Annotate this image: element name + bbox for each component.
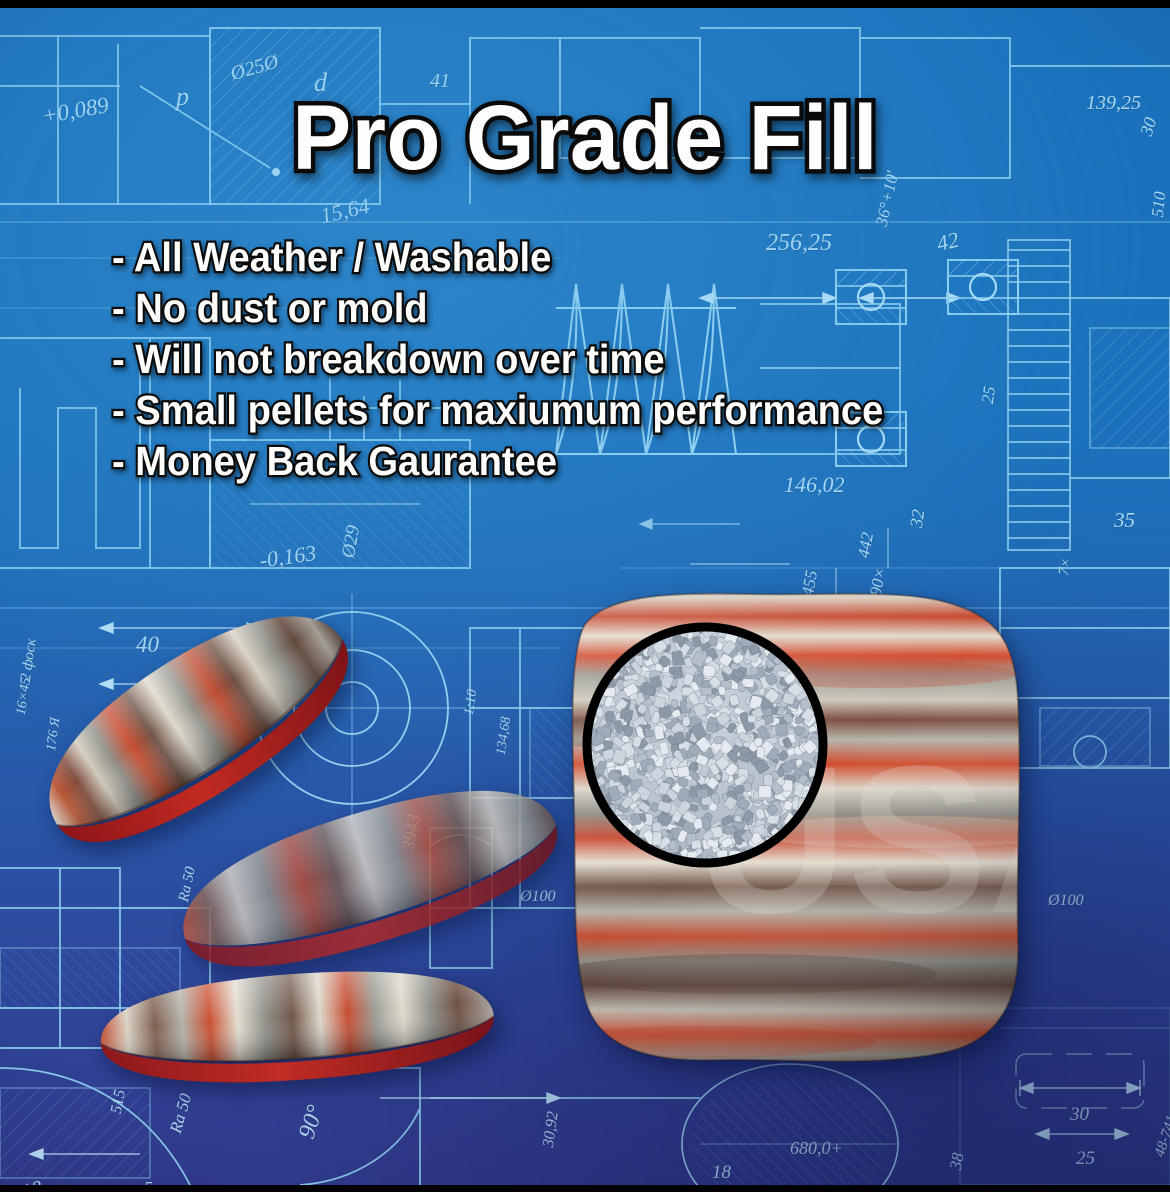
pellet-magnifier-circle	[578, 618, 832, 872]
product-poster: +0,08915,6441Ø25Øpd139,2530256,2536°+10'…	[0, 0, 1170, 1192]
letterbox-top	[0, 0, 1170, 8]
letterbox-bottom	[0, 1185, 1170, 1192]
bean-bag-edge-bottom	[86, 956, 506, 1096]
